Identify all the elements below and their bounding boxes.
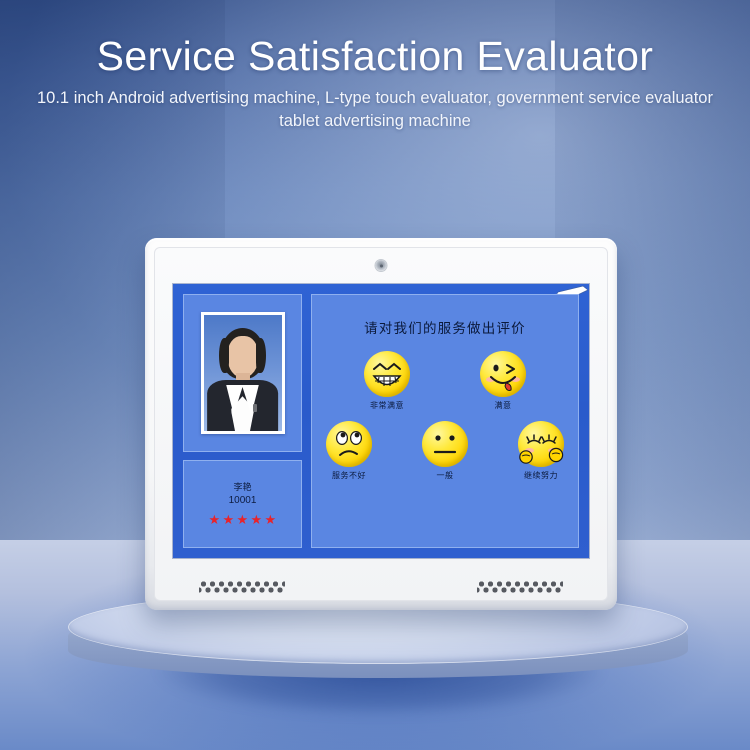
cheering-face-icon [518,421,564,467]
product-banner: Service Satisfaction Evaluator 10.1 inch… [0,0,750,750]
evaluation-options-row-2: 服务不好 [312,421,578,481]
portrait-hair-right [256,338,266,373]
portrait-hair-left [219,338,229,373]
staff-id-photo [204,315,282,431]
option-label: 非常满意 [370,400,404,411]
portrait-face [227,336,258,378]
grinning-face-icon [364,351,410,397]
tablet-device: 李艳 10001 ★ ★ ★ ★ ★ [145,238,617,610]
evaluation-option-very-satisfied[interactable]: 非常满意 [350,351,424,411]
speaker-grille-right-icon [477,581,563,594]
front-camera-icon [376,260,387,271]
star-icon: ★ [223,514,235,526]
unhappy-face-icon [326,421,372,467]
portrait-badge-pin [253,404,257,412]
speaker-grille-left-icon [199,581,285,594]
front-camera-lens [380,264,383,267]
evaluation-option-bad-service[interactable]: 服务不好 [312,421,386,481]
evaluation-option-average[interactable]: 一般 [408,421,482,481]
evaluation-options: 非常满意 [312,351,578,481]
option-label: 继续努力 [524,470,558,481]
neutral-face-icon [422,421,468,467]
option-label: 一般 [437,470,454,481]
star-icon: ★ [251,514,263,526]
tablet-screen[interactable]: 李艳 10001 ★ ★ ★ ★ ★ [173,284,589,558]
staff-name: 李艳 [233,482,251,493]
winking-tongue-face-icon [480,351,526,397]
star-icon: ★ [265,514,277,526]
evaluation-panel: 请对我们的服务做出评价 [311,294,579,548]
evaluation-prompt: 请对我们的服务做出评价 [312,317,578,337]
staff-panel: 李艳 10001 ★ ★ ★ ★ ★ [183,294,302,548]
star-icon: ★ [209,514,221,526]
page-title: Service Satisfaction Evaluator [0,34,750,78]
staff-id: 10001 [229,495,257,508]
page-subtitle: 10.1 inch Android advertising machine, L… [30,87,720,132]
staff-rating-stars: ★ ★ ★ ★ ★ [209,514,277,526]
banner-header: Service Satisfaction Evaluator 10.1 inch… [0,34,750,132]
evaluation-option-satisfied[interactable]: 满意 [466,351,540,411]
evaluation-options-row-1: 非常满意 [312,351,578,411]
option-label: 满意 [495,400,512,411]
option-label: 服务不好 [332,470,366,481]
staff-photo-card [183,294,302,452]
staff-info-card: 李艳 10001 ★ ★ ★ ★ ★ [183,460,302,548]
staff-photo-frame [201,312,285,434]
screen-layout: 李艳 10001 ★ ★ ★ ★ ★ [183,294,579,548]
tablet-body: 李艳 10001 ★ ★ ★ ★ ★ [145,238,617,610]
star-icon: ★ [237,514,249,526]
evaluation-option-keep-trying[interactable]: 继续努力 [504,421,578,481]
